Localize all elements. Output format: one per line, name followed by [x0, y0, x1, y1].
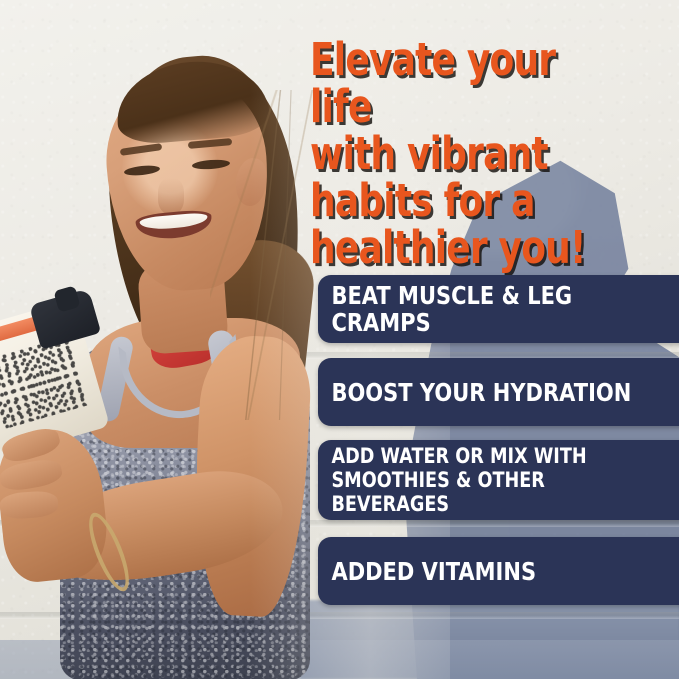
benefit-pill-beat-cramps: BEAT MUSCLE & LEG CRAMPS: [318, 275, 679, 343]
promotional-poster: Elevate your life with vibrant habits fo…: [0, 0, 679, 679]
benefit-pill-label: BEAT MUSCLE & LEG CRAMPS: [318, 282, 637, 336]
teeth: [139, 212, 208, 231]
benefit-pill-label: BOOST YOUR HYDRATION: [318, 379, 631, 406]
benefit-pill-label: ADDED VITAMINS: [318, 558, 536, 585]
bottle-label: [0, 336, 87, 429]
benefit-pill-mix-options: ADD WATER OR MIX WITH SMOOTHIES & OTHER …: [318, 440, 679, 520]
nose: [158, 178, 184, 214]
benefit-pill-vitamins: ADDED VITAMINS: [318, 537, 679, 605]
loose-hair-strands: [210, 90, 320, 420]
benefit-pill-label: ADD WATER OR MIX WITH SMOOTHIES & OTHER …: [318, 444, 637, 516]
benefit-pill-hydration: BOOST YOUR HYDRATION: [318, 358, 679, 426]
woman-figure: [0, 0, 330, 679]
headline: Elevate your life with vibrant habits fo…: [310, 36, 598, 271]
